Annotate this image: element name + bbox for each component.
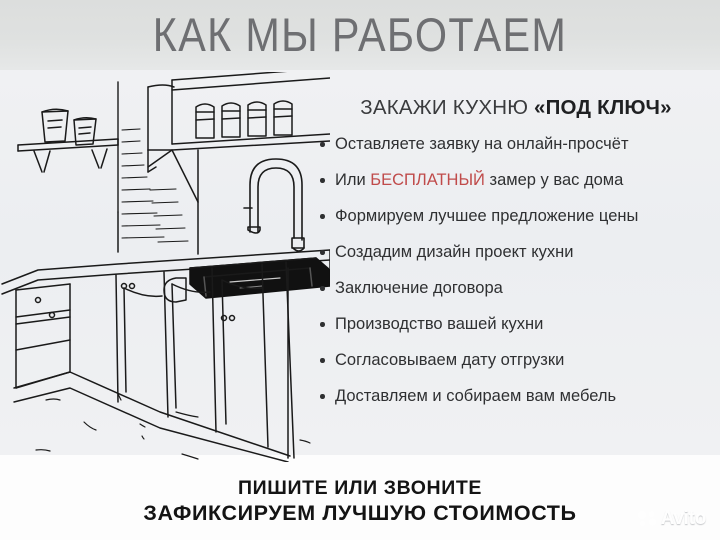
bullet-dot-icon [320, 322, 325, 327]
step-text: Согласовываем дату отгрузки [335, 351, 564, 369]
backsplash-hatching [122, 129, 188, 242]
list-item: Согласовываем дату отгрузки [318, 351, 714, 370]
offer-subtitle: ЗАКАЖИ КУХНЮ «ПОД КЛЮЧ» [318, 95, 714, 121]
bullet-dot-icon [320, 358, 325, 363]
list-item: Оставляете заявку на онлайн-просчёт [318, 135, 714, 154]
list-item: Формируем лучшее предложение цены [318, 207, 714, 226]
footer-call-to-action: ПИШИТЕ ИЛИ ЗВОНИТЕ ЗАФИКСИРУЕМ ЛУЧШУЮ СТ… [0, 476, 720, 526]
bullet-dot-icon [320, 394, 325, 399]
bullet-dot-icon [320, 286, 325, 291]
step-text: Заключение договора [335, 279, 503, 297]
jar-1 [196, 104, 214, 138]
gooseneck-faucet [244, 159, 304, 251]
step-text: Производство вашей кухни [335, 315, 543, 333]
avito-dots-icon [637, 510, 657, 528]
bullet-dot-icon [320, 250, 325, 255]
bullet-dot-icon [320, 214, 325, 219]
step-text-pre: Или [335, 171, 370, 189]
step-text-highlight: БЕСПЛАТНЫЙ [370, 171, 485, 189]
upper-shelf-with-jars [172, 72, 330, 150]
list-item: Или БЕСПЛАТНЫЙ замер у вас дома [318, 171, 714, 190]
wall-shelf-with-pots [18, 109, 118, 172]
offer-subtitle-strong: «ПОД КЛЮЧ» [534, 96, 672, 119]
step-text: Доставляем и собираем вам мебель [335, 387, 616, 405]
kitchen-illustration [0, 72, 330, 462]
jar-3 [248, 102, 266, 136]
list-item: Заключение договора [318, 279, 714, 298]
jar-4 [274, 101, 292, 135]
offer-content: ЗАКАЖИ КУХНЮ «ПОД КЛЮЧ» Оставляете заявк… [318, 95, 714, 406]
step-text: Оставляете заявку на онлайн-просчёт [335, 135, 629, 153]
list-item: Создадим дизайн проект кухни [318, 243, 714, 262]
step-text-post: замер у вас дома [485, 171, 623, 189]
poster-root: КАК МЫ РАБОТАЕМ [0, 0, 720, 540]
sink-basin [164, 258, 330, 302]
jar-2 [222, 103, 240, 137]
offer-subtitle-plain: ЗАКАЖИ КУХНЮ [360, 96, 534, 119]
step-text: Создадим дизайн проект кухни [335, 243, 573, 261]
list-item: Доставляем и собираем вам мебель [318, 387, 714, 406]
avito-watermark: Avito [637, 509, 706, 528]
list-item: Производство вашей кухни [318, 315, 714, 334]
footer-line-1: ПИШИТЕ ИЛИ ЗВОНИТЕ [0, 476, 720, 500]
lower-cabinets-left [16, 284, 70, 388]
bullet-dot-icon [320, 178, 325, 183]
avito-label: Avito [661, 509, 706, 528]
bullet-dot-icon [320, 142, 325, 147]
steps-list: Оставляете заявку на онлайн-просчёт Или … [318, 135, 714, 406]
cabinet-base-line [14, 372, 290, 462]
page-title: КАК МЫ РАБОТАЕМ [43, 6, 677, 64]
step-text: Формируем лучшее предложение цены [335, 207, 638, 225]
footer-line-2: ЗАФИКСИРУЕМ ЛУЧШУЮ СТОИМОСТЬ [0, 500, 720, 526]
